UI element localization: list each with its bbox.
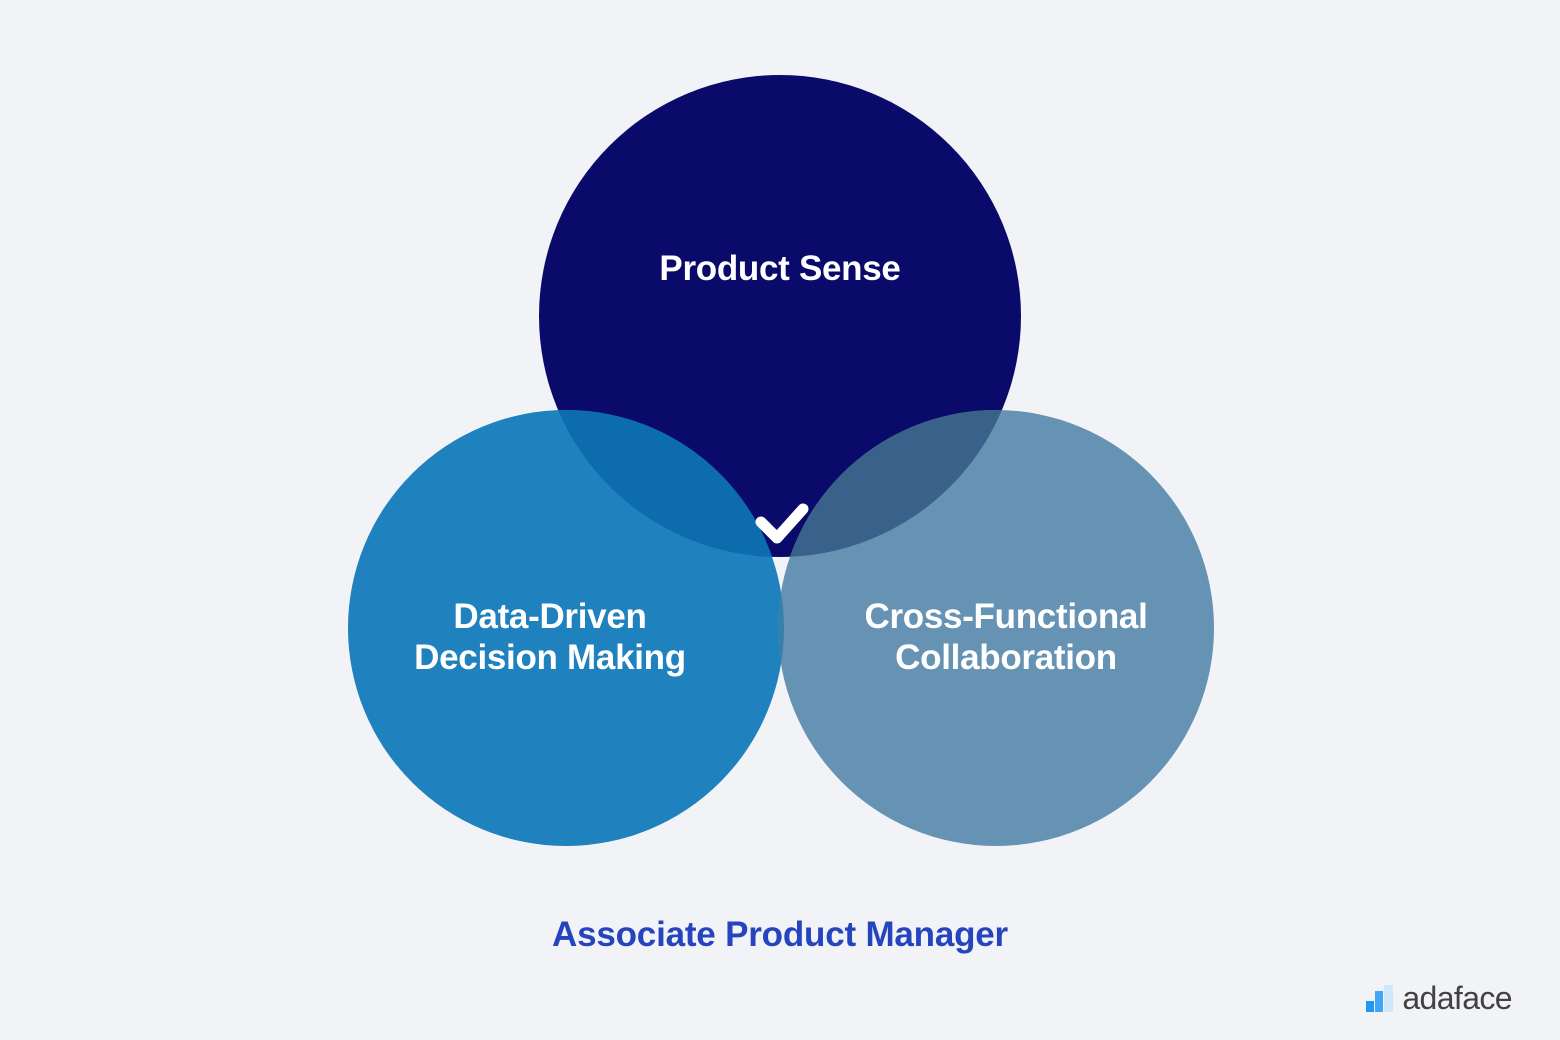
brand-wordmark: adaface <box>1402 982 1512 1014</box>
venn-diagram: Product Sense Data-Driven Decision Makin… <box>0 0 1560 1040</box>
brand-logo: adaface <box>1366 978 1512 1018</box>
venn-circles-graphic <box>0 0 1560 1040</box>
bar-chart-icon <box>1366 985 1393 1012</box>
diagram-title: Associate Product Manager <box>0 915 1560 955</box>
